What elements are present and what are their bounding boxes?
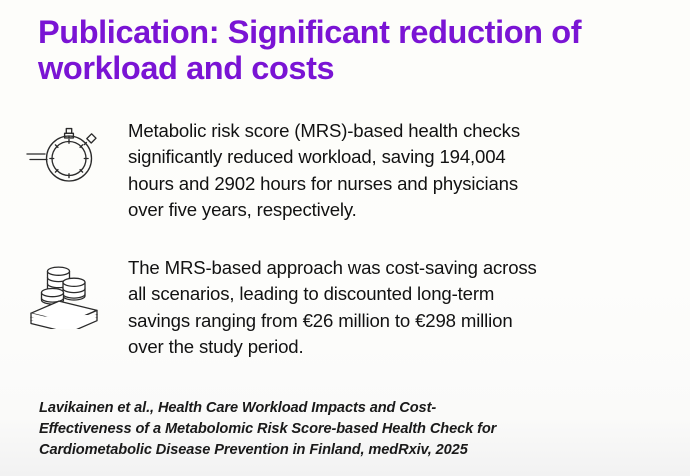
- bullet-savings: The MRS-based approach was cost-saving a…: [0, 255, 650, 360]
- bullet-savings-text: The MRS-based approach was cost-saving a…: [128, 255, 650, 360]
- stopwatch-icon-cell: [0, 118, 128, 190]
- page-title: Publication: Significant reduction of wo…: [38, 14, 690, 86]
- bullet-workload-text: Metabolic risk score (MRS)-based health …: [128, 118, 650, 223]
- stopwatch-icon: [25, 120, 103, 190]
- money-stack-icon-cell: [0, 255, 128, 329]
- money-stack-icon: [25, 257, 103, 329]
- citation-reference: Lavikainen et al., Health Care Workload …: [39, 398, 599, 461]
- bullet-workload: Metabolic risk score (MRS)-based health …: [0, 118, 650, 223]
- slide: Publication: Significant reduction of wo…: [0, 0, 690, 476]
